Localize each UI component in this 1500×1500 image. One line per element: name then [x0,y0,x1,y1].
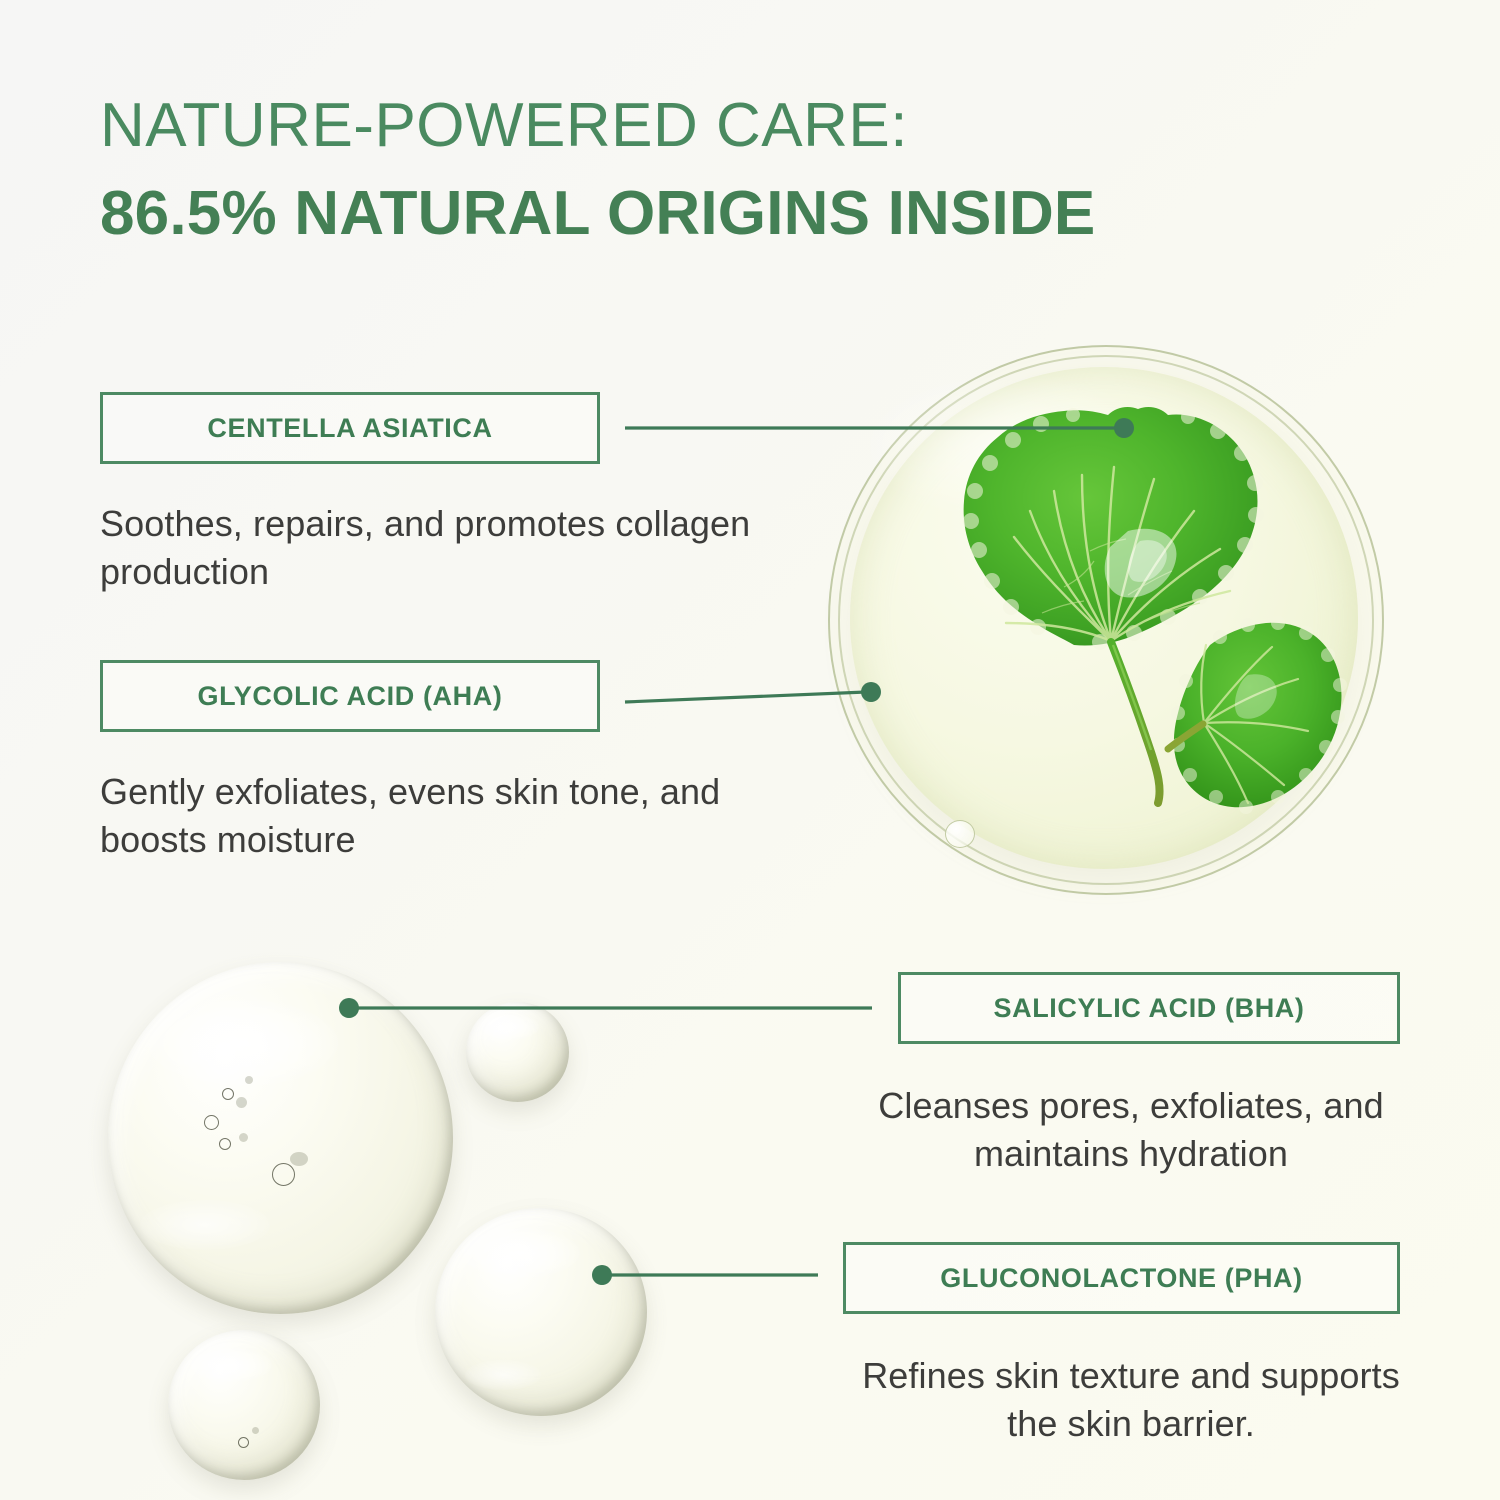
ingredient-description-gluconolactone: Refines skin texture and supports the sk… [846,1352,1416,1448]
ingredient-label-gluconolactone[interactable]: GLUCONOLACTONE (PHA) [843,1242,1400,1314]
ingredient-label-salicylic-acid[interactable]: SALICYLIC ACID (BHA) [898,972,1400,1044]
ingredient-description-centella-asiatica: Soothes, repairs, and promotes collagen … [100,500,760,596]
ingredient-description-salicylic-acid: Cleanses pores, exfoliates, and maintain… [846,1082,1416,1178]
ingredient-label-centella-asiatica[interactable]: CENTELLA ASIATICA [100,392,600,464]
connector-line-glycolic [625,692,866,702]
connector-dot-centella [1114,418,1134,438]
connector-dot-glycolic [861,682,881,702]
ingredient-label-glycolic-acid[interactable]: GLYCOLIC ACID (AHA) [100,660,600,732]
ingredient-description-glycolic-acid: Gently exfoliates, evens skin tone, and … [100,768,760,864]
infographic-canvas: NATURE-POWERED CARE: 86.5% NATURAL ORIGI… [0,0,1500,1500]
